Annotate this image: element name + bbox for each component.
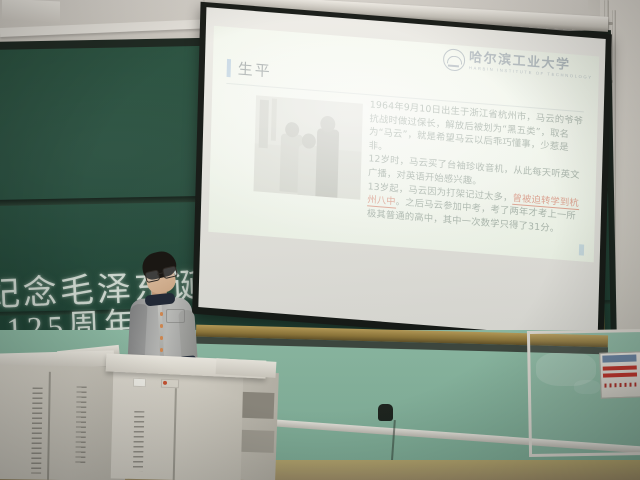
control-panel-display — [602, 354, 636, 362]
cabinet-vent-left — [31, 387, 42, 473]
slide-title-accent-bar — [227, 58, 231, 76]
equipment-cabinet — [0, 365, 127, 480]
slide-body-text: 1964年9月10日出生于浙江省杭州市，马云的爷爷抗战时做过保长，解放后被划为“… — [367, 98, 588, 238]
screen-border: 哈尔滨工业大学 HARBIN INSTITUTE OF TECHNOLOGY 生… — [192, 2, 612, 347]
screen-surface: 哈尔滨工业大学 HARBIN INSTITUTE OF TECHNOLOGY 生… — [198, 7, 605, 339]
slide-photo — [253, 95, 362, 199]
podium-vent — [133, 411, 144, 471]
university-logo: 哈尔滨工业大学 HARBIN INSTITUTE OF TECHNOLOGY — [443, 48, 593, 82]
podium-door-seam — [173, 382, 177, 480]
control-panel-box — [599, 351, 640, 398]
podium-label — [133, 378, 146, 387]
classroom-photo: 纪念毛泽东诞辰 125周年 哈尔滨工业大学 HARBIN INSTITUTE O… — [0, 0, 640, 480]
cabinet-vent-right — [75, 386, 86, 466]
projection-screen-assembly: 哈尔滨工业大学 HARBIN INSTITUTE OF TECHNOLOGY 生… — [192, 2, 612, 347]
control-panel-indicators — [604, 382, 636, 387]
glasses-lens-right — [162, 265, 178, 279]
jacket-button-3 — [160, 336, 164, 340]
projected-slide: 哈尔滨工业大学 HARBIN INSTITUTE OF TECHNOLOGY 生… — [208, 26, 599, 263]
university-crest-icon — [443, 48, 466, 72]
slide-corner-mark — [579, 244, 584, 255]
jacket-button-2 — [160, 324, 164, 328]
photo-tree-trunk-1 — [259, 100, 269, 149]
control-panel-stripe-2 — [603, 372, 637, 377]
cabinet-door-seam — [47, 372, 50, 480]
ceiling-fixture — [2, 0, 60, 24]
wall-socket — [378, 404, 393, 421]
jacket-button-4 — [160, 348, 164, 352]
photo-child-right — [315, 128, 339, 198]
jacket-button-1 — [160, 312, 164, 316]
control-panel-stripe-1 — [603, 365, 637, 370]
slide-title: 生平 — [238, 58, 273, 82]
presenter-chest-pocket — [166, 309, 185, 323]
slide-title-group: 生平 — [227, 57, 273, 82]
podium-sticker — [161, 379, 179, 389]
